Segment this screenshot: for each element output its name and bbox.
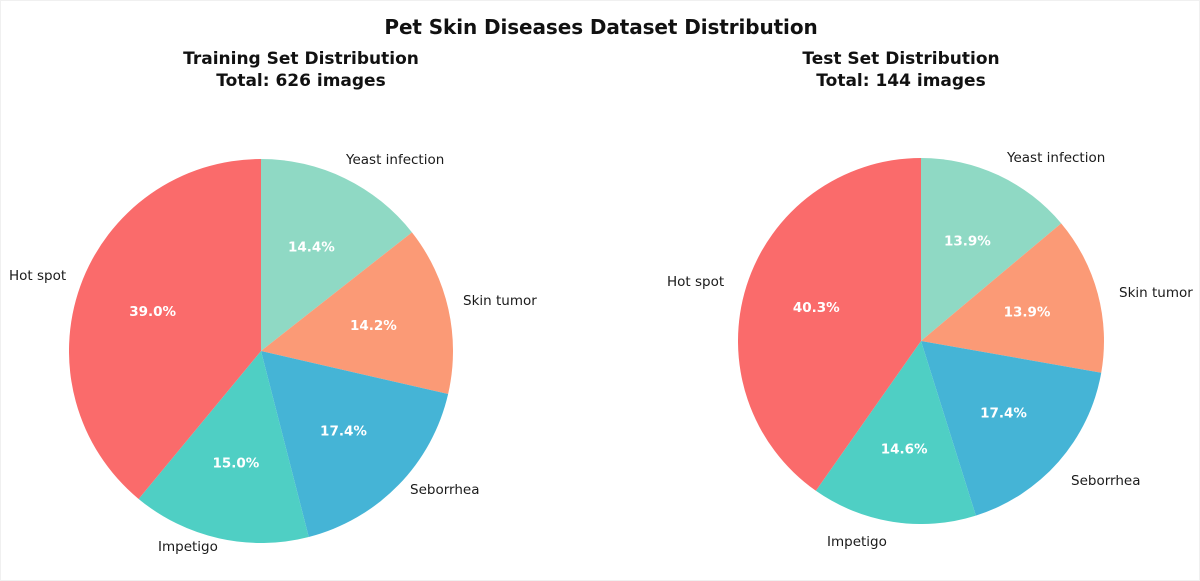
category-label-hot-spot: Hot spot (667, 274, 724, 290)
panel-test: Test Set Distribution Total: 144 images … (601, 1, 1200, 581)
category-label-impetigo: Impetigo (158, 539, 218, 555)
panel-title-test: Test Set Distribution Total: 144 images (601, 49, 1200, 93)
pct-label-impetigo: 15.0% (212, 455, 259, 471)
category-label-skin-tumor: Skin tumor (1119, 285, 1193, 301)
pct-label-impetigo: 14.6% (881, 442, 928, 458)
category-label-skin-tumor: Skin tumor (463, 293, 537, 309)
pie-slices-test (738, 158, 1104, 524)
category-label-impetigo: Impetigo (827, 534, 887, 550)
chart-figure: Pet Skin Diseases Dataset Distribution T… (0, 0, 1200, 581)
pie-chart-training: 14.4% 14.2% 17.4% 15.0% 39.0% (69, 159, 453, 543)
pct-label-hot-spot: 39.0% (129, 304, 176, 320)
pct-label-yeast-infection: 13.9% (944, 233, 991, 249)
panel-training: Training Set Distribution Total: 626 ima… (1, 1, 601, 581)
category-label-yeast-infection: Yeast infection (1007, 150, 1105, 166)
pct-label-yeast-infection: 14.4% (288, 239, 335, 255)
category-label-seborrhea: Seborrhea (1071, 473, 1140, 489)
pct-label-skin-tumor: 13.9% (1004, 305, 1051, 321)
pie-svg-training: 14.4% 14.2% 17.4% 15.0% 39.0% (69, 159, 453, 543)
category-label-seborrhea: Seborrhea (410, 482, 479, 498)
category-label-hot-spot: Hot spot (9, 268, 66, 284)
pct-label-seborrhea: 17.4% (980, 405, 1027, 421)
pct-label-skin-tumor: 14.2% (350, 318, 397, 334)
category-label-yeast-infection: Yeast infection (346, 152, 444, 168)
pct-label-hot-spot: 40.3% (793, 300, 840, 316)
pie-chart-test: 13.9% 13.9% 17.4% 14.6% 40.3% (738, 158, 1104, 524)
panel-title-training: Training Set Distribution Total: 626 ima… (1, 49, 601, 93)
pct-label-seborrhea: 17.4% (320, 423, 367, 439)
pie-svg-test: 13.9% 13.9% 17.4% 14.6% 40.3% (738, 158, 1104, 524)
pie-slices-training (69, 159, 453, 543)
